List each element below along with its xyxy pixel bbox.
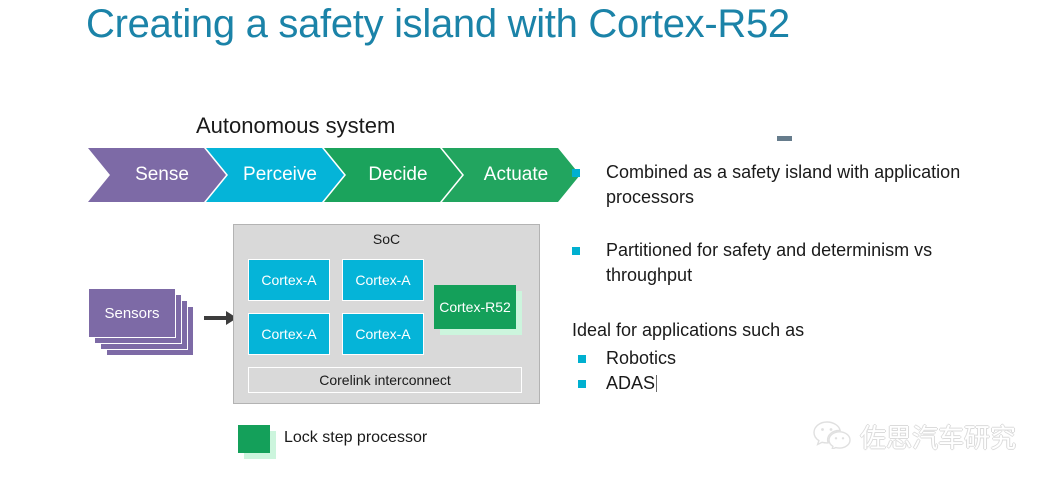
bullet-item: Partitioned for safety and determinism v…: [572, 238, 1002, 288]
bullet-marker-icon: [578, 380, 586, 388]
corelink-interconnect-bar: Corelink interconnect: [248, 367, 522, 393]
legend: Lock step processor: [238, 425, 498, 465]
flow-step-sense: Sense: [88, 148, 226, 202]
soc-label: SoC: [234, 231, 539, 247]
flow-step-label: Sense: [125, 164, 189, 186]
legend-label: Lock step processor: [284, 429, 427, 447]
bullet-marker-icon: [572, 169, 580, 177]
flow-step-label: Actuate: [474, 164, 548, 186]
flow-step-label: Perceive: [233, 164, 317, 186]
watermark: 佐思汽车研究: [812, 418, 1016, 455]
flow-step-label: Decide: [358, 164, 427, 186]
bullet-marker-icon: [572, 247, 580, 255]
bullet-text: Partitioned for safety and determinism v…: [606, 240, 932, 285]
application-item: Robotics: [572, 346, 872, 371]
application-text: ADAS: [606, 373, 655, 393]
flow-step-decide: Decide: [324, 148, 462, 202]
application-text: Robotics: [606, 348, 676, 368]
soc-block: SoC Cortex-A Cortex-A Cortex-A Cortex-A …: [233, 224, 540, 404]
sensors-card-front: Sensors: [88, 288, 176, 338]
dash-mark: [777, 136, 792, 141]
watermark-text: 佐思汽车研究: [860, 418, 1016, 455]
cortex-a-label: Cortex-A: [261, 326, 316, 342]
bullet-marker-icon: [578, 355, 586, 363]
cortex-a-label: Cortex-A: [355, 272, 410, 288]
applications-intro: Ideal for applications such as: [572, 320, 804, 341]
flow-step-perceive: Perceive: [206, 148, 344, 202]
cortex-a-label: Cortex-A: [261, 272, 316, 288]
sensors-stack: Sensors: [88, 288, 200, 360]
bullet-item: Combined as a safety island with applica…: [572, 160, 1002, 210]
bullet-list: Combined as a safety island with applica…: [572, 160, 1002, 288]
page-title: Creating a safety island with Cortex-R52: [86, 2, 790, 47]
slide-canvas: Creating a safety island with Cortex-R52…: [0, 0, 1060, 480]
cortex-a-block: Cortex-A: [248, 313, 330, 355]
corelink-label: Corelink interconnect: [319, 372, 451, 388]
flow-diagram-label: Autonomous system: [196, 113, 395, 139]
sensors-label: Sensors: [104, 305, 159, 322]
bullet-text: Combined as a safety island with applica…: [606, 162, 960, 207]
process-flow: Sense Perceive Decide Actuate: [88, 148, 570, 202]
cortex-a-block: Cortex-A: [248, 259, 330, 301]
cortex-a-label: Cortex-A: [355, 326, 410, 342]
application-item: ADAS: [572, 371, 872, 396]
wechat-icon: [812, 419, 852, 454]
flow-step-actuate: Actuate: [442, 148, 580, 202]
cortex-a-block: Cortex-A: [342, 259, 424, 301]
legend-swatch: [238, 425, 270, 453]
text-caret: [656, 375, 657, 392]
cortex-r52-label: Cortex-R52: [439, 299, 511, 315]
cortex-a-block: Cortex-A: [342, 313, 424, 355]
cortex-r52-block: Cortex-R52: [434, 285, 516, 329]
applications-list: Robotics ADAS: [572, 346, 872, 396]
